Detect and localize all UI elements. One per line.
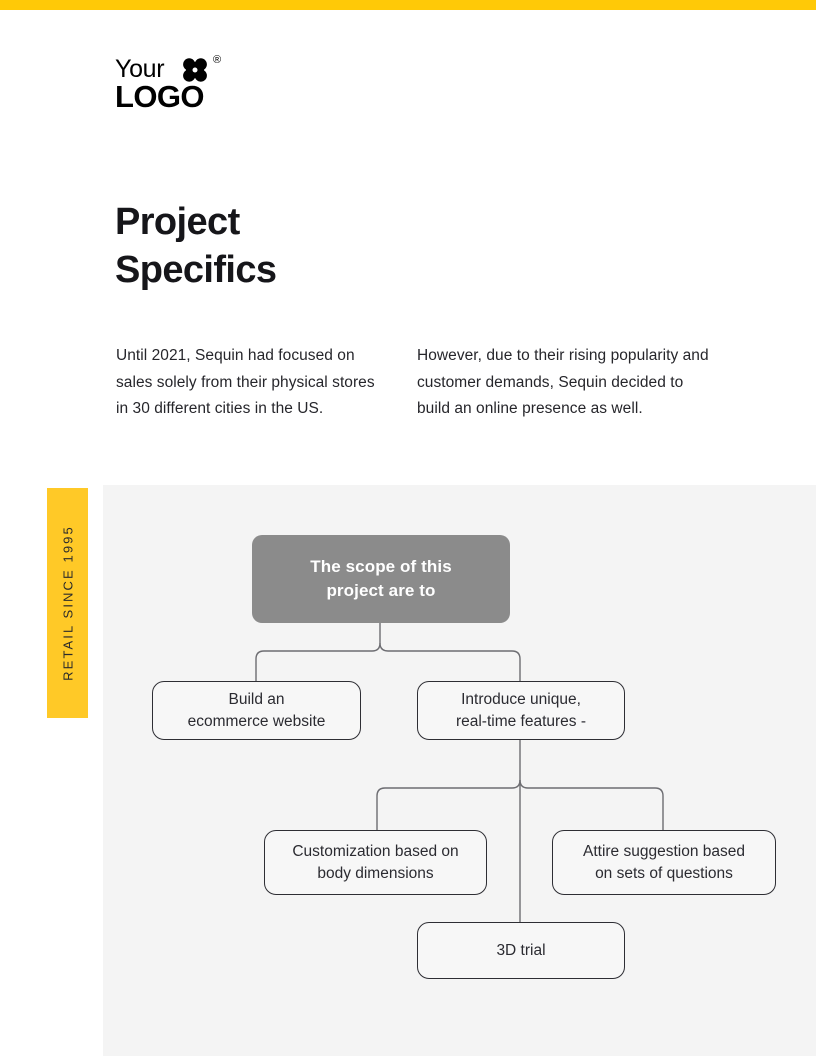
page-title: Project Specifics	[115, 198, 276, 294]
diagram-node-ecommerce[interactable]: Build an ecommerce website	[152, 681, 361, 740]
intro-paragraph-left: Until 2021, Sequin had focused on sales …	[116, 343, 378, 423]
diagram-node-attire-label: Attire suggestion based on sets of quest…	[573, 841, 755, 885]
diagram-node-features-label: Introduce unique, real-time features -	[446, 689, 596, 733]
scope-diagram-panel: The scope of this project are to Build a…	[103, 485, 816, 1056]
side-tab-badge: RETAIL SINCE 1995	[47, 488, 88, 718]
intro-paragraph-right: However, due to their rising popularity …	[417, 343, 717, 423]
diagram-node-ecommerce-label: Build an ecommerce website	[178, 689, 336, 733]
diagram-node-3d-trial-label: 3D trial	[486, 940, 555, 962]
registered-trademark-icon: ®	[213, 55, 221, 66]
logo-line-logo: LOGO	[115, 80, 204, 114]
brand-logo: Your ® LOGO	[115, 55, 315, 110]
diagram-node-features[interactable]: Introduce unique, real-time features -	[417, 681, 625, 740]
side-tab-label: RETAIL SINCE 1995	[60, 525, 75, 681]
diagram-node-root[interactable]: The scope of this project are to	[252, 535, 510, 623]
diagram-node-3d-trial[interactable]: 3D trial	[417, 922, 625, 979]
diagram-node-customization-label: Customization based on body dimensions	[282, 841, 468, 885]
diagram-node-root-label: The scope of this project are to	[300, 555, 462, 603]
top-accent-bar	[0, 0, 816, 10]
diagram-node-attire[interactable]: Attire suggestion based on sets of quest…	[552, 830, 776, 895]
diagram-node-customization[interactable]: Customization based on body dimensions	[264, 830, 487, 895]
